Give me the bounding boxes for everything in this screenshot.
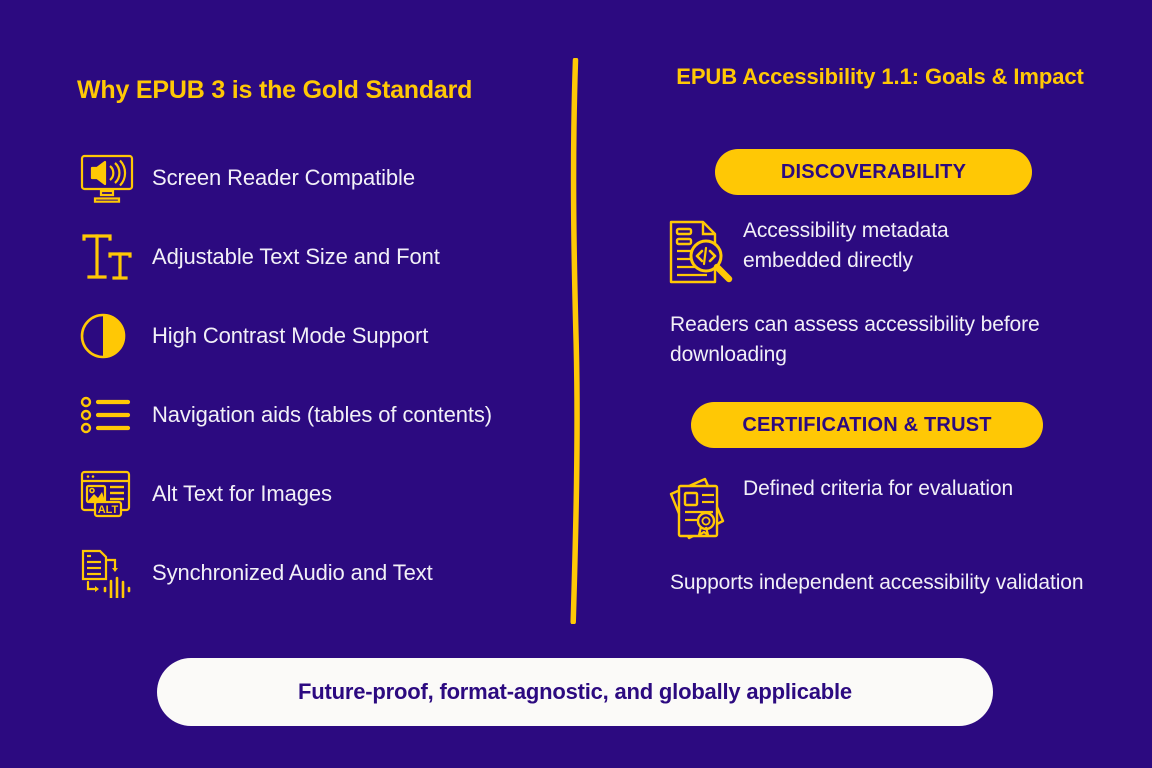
- subtext-certification: Supports independent accessibility valid…: [670, 568, 1090, 598]
- svg-text:ALT: ALT: [98, 504, 119, 516]
- badge-discoverability[interactable]: DISCOVERABILITY: [715, 149, 1032, 195]
- certificate-award-icon: [665, 474, 743, 550]
- feature-item-synchronized-audio: Synchronized Audio and Text: [78, 533, 558, 612]
- alt-text-image-icon: ALT: [78, 465, 144, 523]
- feature-item-high-contrast: High Contrast Mode Support: [78, 296, 558, 375]
- left-column-title: Why EPUB 3 is the Gold Standard: [77, 76, 472, 105]
- document-code-search-icon: [665, 216, 743, 292]
- high-contrast-icon: [78, 307, 144, 365]
- right-column-title: EPUB Accessibility 1.1: Goals & Impact: [670, 60, 1090, 93]
- point-text: Accessibility metadata embedded directly: [743, 216, 1033, 276]
- point-criteria: Defined criteria for evaluation: [665, 474, 1033, 550]
- vertical-divider: [560, 58, 590, 624]
- feature-label: Adjustable Text Size and Font: [152, 244, 440, 270]
- left-column: Why EPUB 3 is the Gold Standard: [0, 0, 560, 640]
- infographic-canvas: Why EPUB 3 is the Gold Standard: [0, 0, 1152, 768]
- badge-certification[interactable]: CERTIFICATION & TRUST: [691, 402, 1043, 448]
- right-column: EPUB Accessibility 1.1: Goals & Impact D…: [590, 0, 1152, 640]
- feature-label: Screen Reader Compatible: [152, 165, 415, 191]
- screen-reader-icon: [78, 149, 144, 207]
- feature-list: Screen Reader Compatible: [78, 138, 558, 612]
- feature-item-text-size: Adjustable Text Size and Font: [78, 217, 558, 296]
- feature-label: Synchronized Audio and Text: [152, 560, 433, 586]
- bulleted-list-icon: [78, 386, 144, 444]
- synchronized-audio-icon: [78, 544, 144, 602]
- feature-item-navigation-aids: Navigation aids (tables of contents): [78, 375, 558, 454]
- subtext-discoverability: Readers can assess accessibility before …: [670, 310, 1090, 370]
- feature-label: Alt Text for Images: [152, 481, 332, 507]
- feature-item-alt-text: ALT Alt Text for Images: [78, 454, 558, 533]
- footer-banner: Future-proof, format-agnostic, and globa…: [157, 658, 993, 726]
- point-text: Defined criteria for evaluation: [743, 474, 1033, 504]
- feature-label: Navigation aids (tables of contents): [152, 402, 492, 428]
- text-size-icon: [78, 228, 144, 286]
- footer-text: Future-proof, format-agnostic, and globa…: [298, 679, 852, 705]
- point-metadata: Accessibility metadata embedded directly: [665, 216, 1033, 292]
- feature-label: High Contrast Mode Support: [152, 323, 428, 349]
- feature-item-screen-reader: Screen Reader Compatible: [78, 138, 558, 217]
- divider-line-icon: [560, 58, 590, 624]
